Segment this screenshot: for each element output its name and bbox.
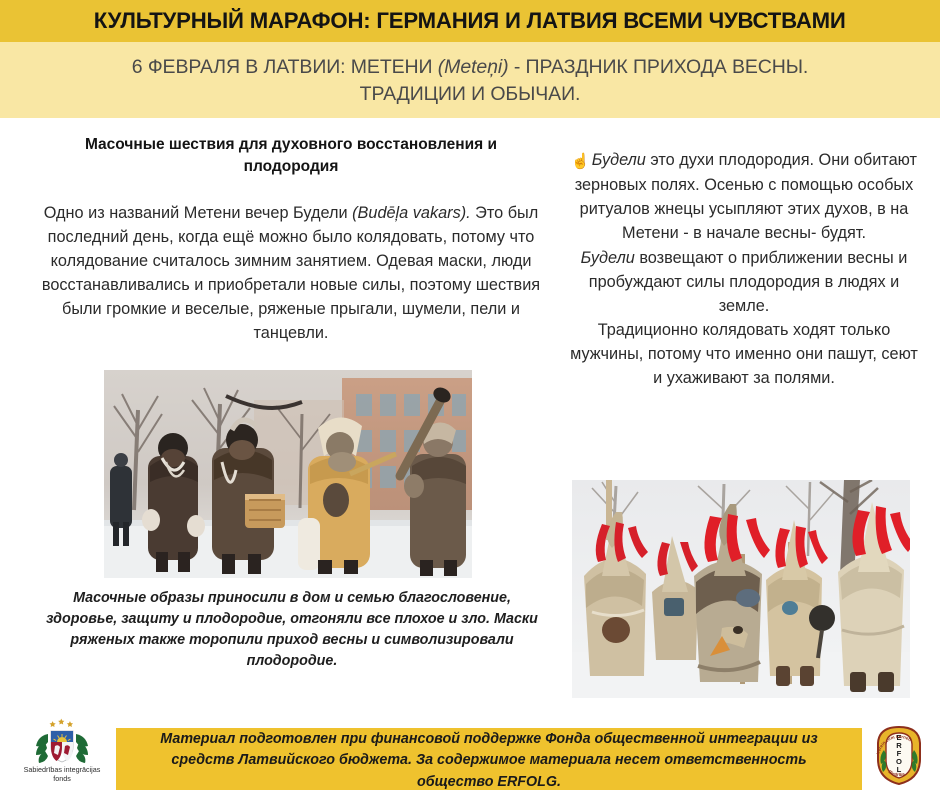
left-paragraph-part-2: Это был последний день, когда ещё можно …	[42, 204, 540, 342]
erfolg-logo: E R F O L Verein zum Lernen Biedrība	[868, 724, 930, 786]
left-column-paragraph: Одно из названий Метени вечер Будели (Bu…	[22, 202, 560, 346]
right-paragraph-3: Традиционно колядовать ходят только мужч…	[570, 321, 918, 387]
sif-logo-caption: Sabiedrības integrācijas fonds	[24, 765, 101, 783]
funding-disclaimer-text: Материал подготовлен при финансовой подд…	[116, 729, 862, 790]
poster-subtitle-bar: 6 ФЕВРАЛЯ В ЛАТВИИ: МЕТЕНИ (Meteņi) - ПР…	[0, 42, 940, 118]
funding-disclaimer-band: Материал подготовлен при финансовой подд…	[116, 728, 862, 790]
poster-page: КУЛЬТУРНЫЙ МАРАФОН: ГЕРМАНИЯ И ЛАТВИЯ ВС…	[0, 0, 940, 790]
subtitle-latvian-name: (Meteņi)	[438, 56, 509, 78]
right-paragraph-2: возвещают о приближении весны и пробужда…	[589, 249, 908, 315]
subtitle-text-after-italic: - ПРАЗДНИК ПРИХОДА ВЕСНЫ.	[509, 56, 809, 78]
subtitle-text-before-italic: 6 ФЕВРАЛЯ В ЛАТВИИ: МЕТЕНИ	[132, 56, 438, 78]
right-column: ☝Будели это духи плодородия. Они обитают…	[568, 148, 920, 390]
right-column-paragraphs: ☝Будели это духи плодородия. Они обитают…	[568, 148, 920, 390]
erfolg-emblem-icon: E R F O L Verein zum Lernen Biedrība	[868, 724, 930, 786]
left-column: Масочные шествия для духовного восстанов…	[22, 134, 560, 346]
latvia-coat-of-arms-icon	[34, 718, 90, 764]
masked-procession-photo	[104, 370, 472, 578]
poster-title-bar: КУЛЬТУРНЫЙ МАРАФОН: ГЕРМАНИЯ И ЛАТВИЯ ВС…	[0, 0, 940, 42]
poster-body: Масочные шествия для духовного восстанов…	[0, 118, 940, 708]
sif-caption-line-2: fonds	[24, 774, 101, 783]
left-paragraph-part-1: Одно из названий Метени вечер Будели	[44, 204, 352, 222]
page-title: КУЛЬТУРНЫЙ МАРАФОН: ГЕРМАНИЯ И ЛАТВИЯ ВС…	[94, 8, 846, 34]
subtitle-line-2: ТРАДИЦИИ И ОБЫЧАИ.	[360, 81, 581, 108]
left-paragraph-latvian-term: (Budēļa vakars).	[352, 204, 471, 222]
pointing-up-finger-icon: ☝	[571, 151, 590, 173]
budeli-term-2: Будели	[581, 249, 635, 267]
budeli-costumes-photo	[572, 480, 928, 698]
left-column-heading: Масочные шествия для духовного восстанов…	[22, 134, 560, 178]
budeli-term-1: Будели	[592, 151, 646, 169]
sabiedribas-integracijas-fonds-logo: Sabiedrības integrācijas fonds	[12, 718, 112, 790]
masked-procession-photo-caption: Масочные образы приносили в дом и семью …	[46, 588, 538, 671]
subtitle-line-1: 6 ФЕВРАЛЯ В ЛАТВИИ: МЕТЕНИ (Meteņi) - ПР…	[132, 54, 808, 81]
poster-footer: Sabiedrības integrācijas fonds Материал …	[0, 708, 940, 790]
sif-caption-line-1: Sabiedrības integrācijas	[24, 765, 101, 774]
